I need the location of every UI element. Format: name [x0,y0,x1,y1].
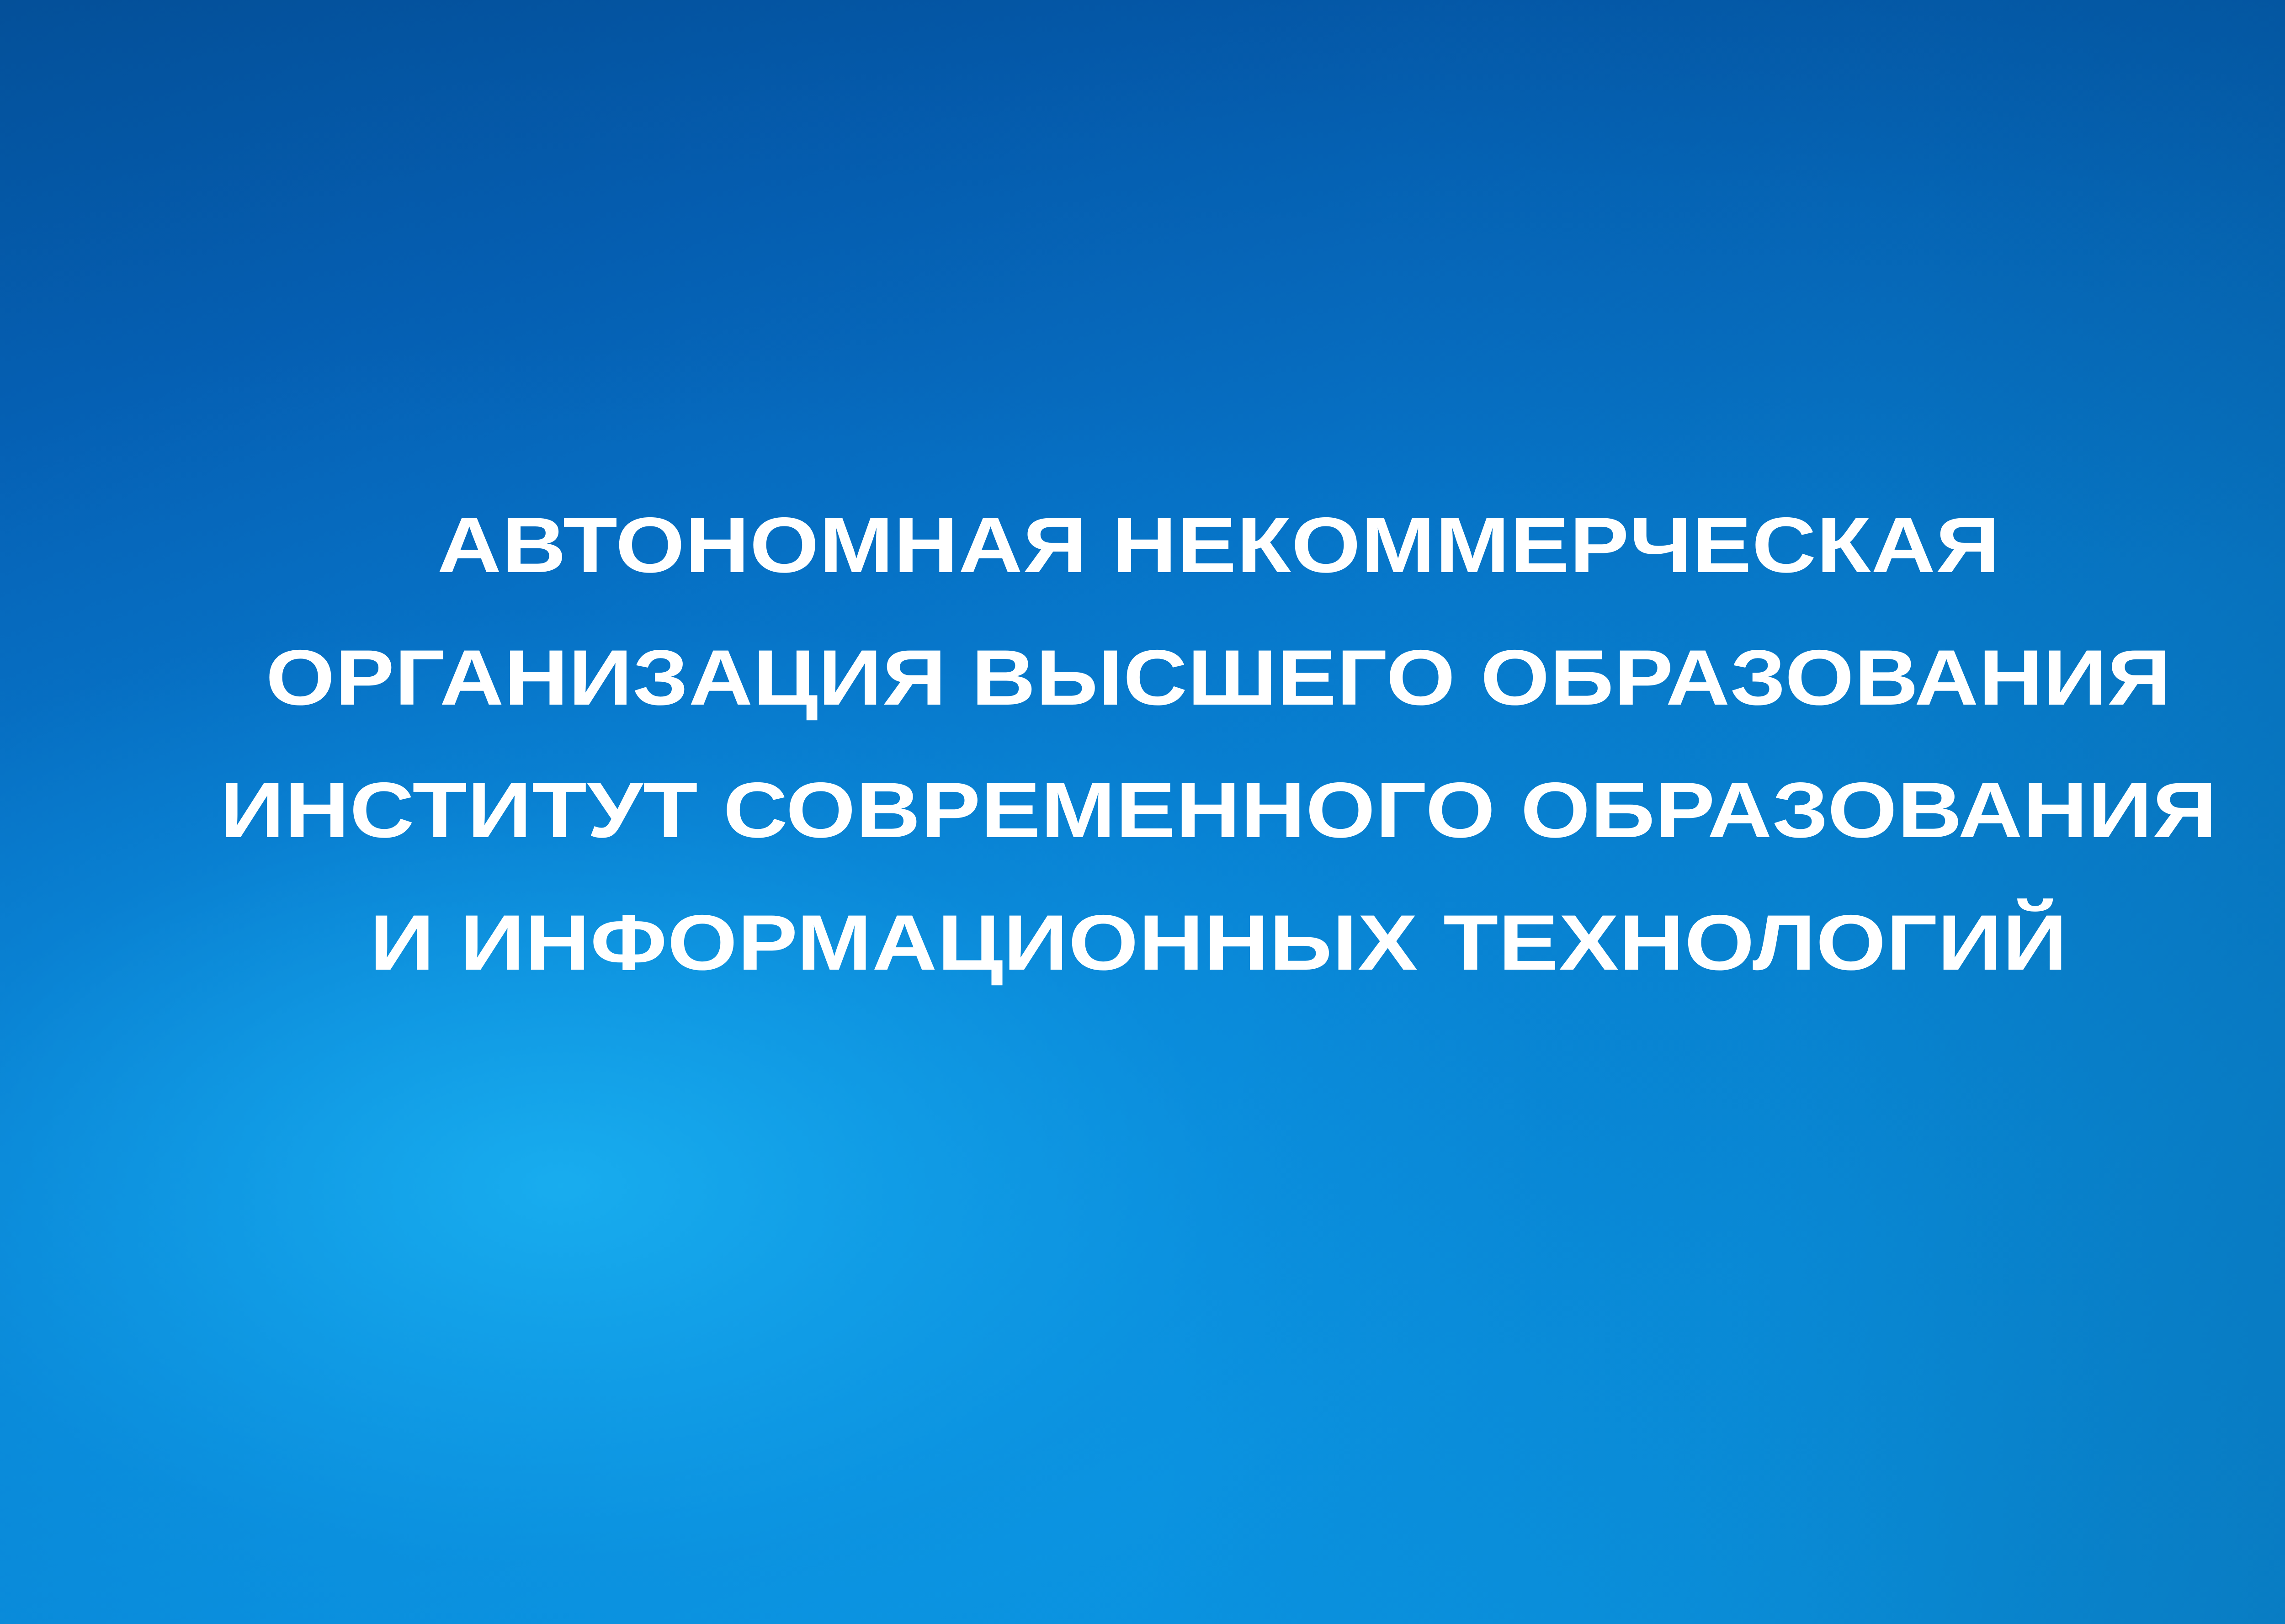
title-slide: АВТОНОМНАЯ НЕКОММЕРЧЕСКАЯ ОРГАНИЗАЦИЯ ВЫ… [0,0,2285,1624]
title-line-2: ОРГАНИЗАЦИЯ ВЫСШЕГО ОБРАЗОВАНИЯ [0,611,2285,744]
title-line-4: И ИНФОРМАЦИОННЫХ ТЕХНОЛОГИЙ [0,876,2285,1009]
organization-title: АВТОНОМНАЯ НЕКОММЕРЧЕСКАЯ ОРГАНИЗАЦИЯ ВЫ… [0,479,2285,1009]
title-line-1: АВТОНОМНАЯ НЕКОММЕРЧЕСКАЯ [0,479,2285,611]
title-line-3: ИНСТИТУТ СОВРЕМЕННОГО ОБРАЗОВАНИЯ [0,744,2285,876]
